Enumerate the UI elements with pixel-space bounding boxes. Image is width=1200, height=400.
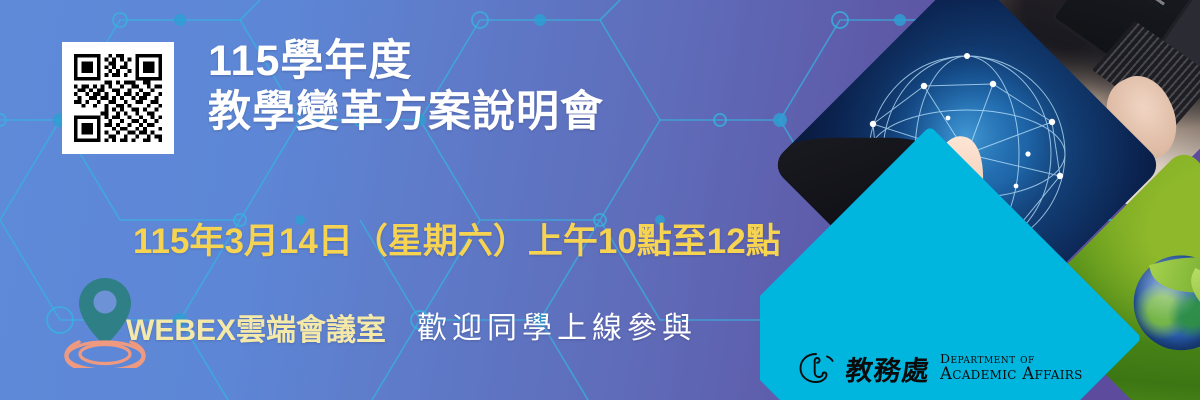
logo-english-text: Department of Academic Affairs (940, 353, 1083, 383)
title-line-2: 教學變革方案說明會 (208, 87, 768, 138)
logo-english-line-2: Academic Affairs (940, 366, 1083, 383)
venue-label: WEBEX雲端會議室 (126, 305, 386, 349)
photo-collage (760, 0, 1200, 400)
welcome-message: 歡迎同學上線參與 (417, 303, 697, 347)
title-line-1: 115學年度 (208, 36, 768, 87)
qr-code[interactable] (62, 42, 174, 154)
event-datetime: 115年3月14日（星期六）上午10點至12點 (133, 213, 781, 264)
department-logo: 教務處 Department of Academic Affairs (796, 348, 1086, 388)
event-banner: 115學年度 教學變革方案說明會 115年3月14日（星期六）上午10點至12點… (0, 0, 1200, 400)
academic-affairs-swirl-mark (796, 351, 836, 385)
logo-chinese-text: 教務處 (844, 349, 932, 388)
page-title: 115學年度 教學變革方案說明會 (208, 36, 768, 137)
